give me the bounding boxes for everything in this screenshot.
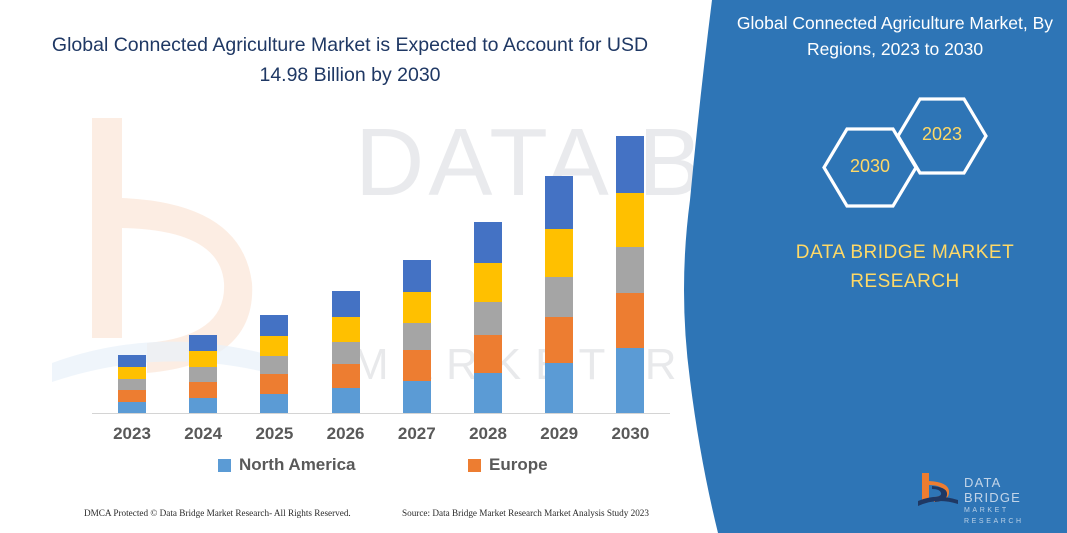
bar-segment [189,367,217,382]
corner-logo-sub: MARKET RESEARCH [964,505,1061,527]
bar-segment [545,317,573,363]
bar-segment [616,136,644,193]
bar-segment [474,373,502,413]
legend-item-europe[interactable]: Europe [468,455,548,475]
bar-segment [332,317,360,342]
bar-segment [403,350,431,381]
bar-segment [474,335,502,373]
brand-name-line1: DATA BRIDGE MARKET [760,238,1050,267]
x-axis-label-2029: 2029 [529,424,589,444]
legend-swatch-icon [218,459,231,472]
corner-logo-text: DATA BRIDGE MARKET RESEARCH [964,475,1061,527]
bar-segment [616,348,644,413]
right-panel-content: Global Connected Agriculture Market, By … [740,0,1067,533]
x-axis-labels: 20232024202520262027202820292030 [92,424,670,450]
left-chart-panel: Global Connected Agriculture Market is E… [0,0,740,533]
bar-segment [118,390,146,402]
bar-segment [260,356,288,374]
bar-segment [332,342,360,364]
brand-name-line2: RESEARCH [760,267,1050,296]
bar-segment [616,293,644,348]
bar-segment [403,323,431,350]
chart-legend: North AmericaEurope [92,455,670,479]
corner-logo: DATA BRIDGE MARKET RESEARCH [916,470,1061,512]
hexagon-label-2023: 2023 [894,124,990,145]
bar-segment [260,394,288,413]
footer-copyright: DMCA Protected © Data Bridge Market Rese… [84,508,351,518]
bar-segment [189,398,217,413]
x-axis-label-2024: 2024 [173,424,233,444]
bar-segment [332,364,360,388]
bar-2024 [189,335,217,413]
footer: DMCA Protected © Data Bridge Market Rese… [84,508,704,524]
footer-source: Source: Data Bridge Market Research Mark… [402,508,649,518]
bar-2025 [260,315,288,413]
bar-segment [403,260,431,292]
bar-2026 [332,291,360,413]
x-axis-label-2028: 2028 [458,424,518,444]
bar-segment [545,277,573,317]
right-panel-title: Global Connected Agriculture Market, By … [735,10,1055,62]
bar-segment [260,374,288,394]
stacked-bar-chart [92,118,670,414]
bar-segment [260,315,288,336]
bar-segment [118,402,146,413]
bar-segment [403,381,431,413]
bar-segment [118,355,146,367]
x-axis-label-2025: 2025 [244,424,304,444]
corner-logo-main: DATA BRIDGE [964,475,1061,505]
bar-segment [189,335,217,351]
infographic-canvas: DATA BRIDGE MARKET RESEARCH Global Conne… [0,0,1067,533]
x-axis-line [92,413,670,414]
x-axis-label-2023: 2023 [102,424,162,444]
legend-swatch-icon [468,459,481,472]
brand-logo-icon [916,470,960,510]
bar-segment [189,351,217,367]
x-axis-label-2030: 2030 [600,424,660,444]
bar-segment [474,222,502,263]
bar-segment [616,247,644,293]
x-axis-label-2027: 2027 [387,424,447,444]
hexagon-badges: 2030 2023 [820,95,1040,210]
bar-2029 [545,176,573,413]
legend-label: Europe [489,455,548,475]
bar-segment [118,367,146,379]
bar-segment [332,388,360,413]
bar-segment [474,302,502,335]
brand-name: DATA BRIDGE MARKET RESEARCH [760,238,1050,296]
x-axis-label-2026: 2026 [316,424,376,444]
bar-segment [545,363,573,413]
bar-segment [545,229,573,277]
hexagon-badge-2023[interactable]: 2023 [894,95,990,177]
bar-segment [260,336,288,356]
bar-segment [616,193,644,247]
legend-label: North America [239,455,356,475]
bar-segment [474,263,502,302]
legend-item-north-america[interactable]: North America [218,455,356,475]
chart-title: Global Connected Agriculture Market is E… [40,30,660,90]
bar-segment [189,382,217,398]
bar-segment [332,291,360,317]
bar-2030 [616,136,644,413]
bar-2028 [474,222,502,413]
bar-segment [545,176,573,229]
bar-segment [118,379,146,390]
bar-segment [403,292,431,323]
bar-2027 [403,260,431,413]
bar-2023 [118,355,146,413]
